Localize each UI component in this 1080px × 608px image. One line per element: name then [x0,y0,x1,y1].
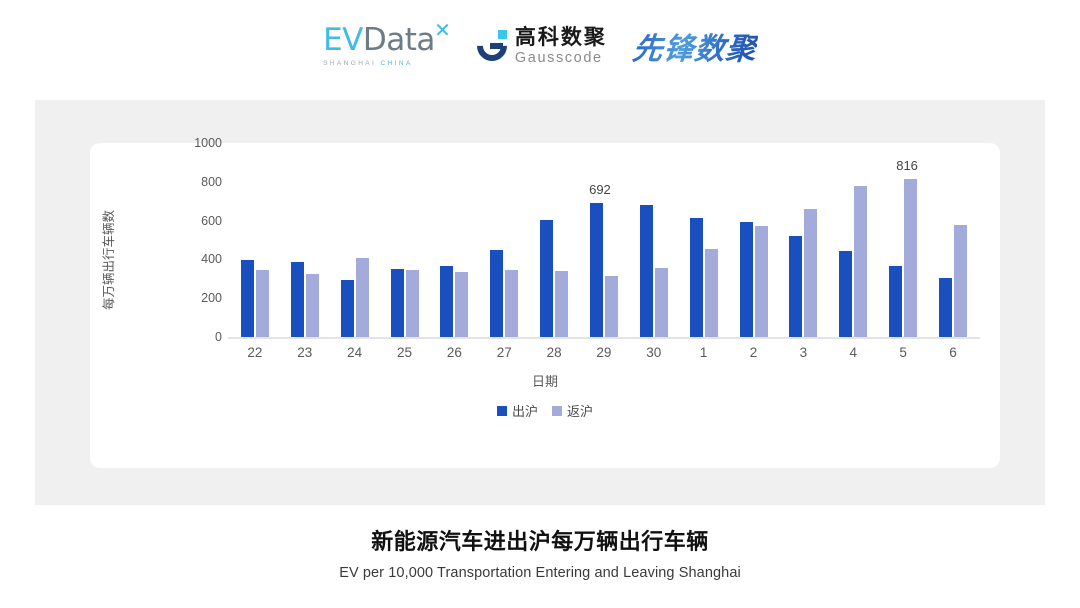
bar-出沪-6[interactable] [939,278,952,337]
gausscode-mark-icon [477,31,507,61]
chart-card: 每万辆出行车辆数 10008006004002000 692816 222324… [90,143,1000,468]
bar-出沪-25[interactable] [391,269,404,337]
legend-item-出沪[interactable]: 出沪 [497,401,538,420]
x-tick-label: 28 [529,345,579,360]
y-tick-label: 0 [215,330,222,344]
bar-返沪-30[interactable] [655,268,668,337]
caption-english: EV per 10,000 Transportation Entering an… [0,565,1080,581]
y-tick-label: 800 [201,175,222,189]
y-axis-ticks: 10008006004002000 [180,143,222,368]
bar-group [479,143,529,337]
bar-group [928,143,978,337]
x-tick-label: 26 [429,345,479,360]
bar-返沪-27[interactable] [505,270,518,337]
bar-返沪-5[interactable] [904,179,917,337]
x-tick-label: 29 [579,345,629,360]
bar-返沪-28[interactable] [555,271,568,337]
bar-出沪-30[interactable] [640,205,653,337]
evdata-ev-text: EV [323,25,363,56]
evdata-tagline-china: CHINA [380,60,412,67]
x-tick-label: 5 [878,345,928,360]
y-tick-label: 200 [201,291,222,305]
bar-出沪-24[interactable] [341,280,354,337]
x-tick-label: 2 [729,345,779,360]
evdata-tagline-shanghai: SHANGHAI [323,60,376,67]
evdata-data-text: Data [363,25,435,56]
gausscode-wordmark: 高科数聚 Gausscode [515,27,607,66]
x-tick-label: 27 [479,345,529,360]
x-axis-ticks: 222324252627282930123456 [230,345,978,360]
x-axis-title: 日期 [90,371,1000,390]
bar-group [380,143,430,337]
bar-group [629,143,679,337]
chart-legend: 出沪返沪 [90,401,1000,420]
gausscode-cn-text: 高科数聚 [515,27,607,48]
bar-group [429,143,479,337]
bar-出沪-28[interactable] [540,220,553,337]
bar-group [778,143,828,337]
evdata-x-icon: ✕ [434,21,451,41]
y-tick-label: 600 [201,214,222,228]
bar-group [280,143,330,337]
xianfeng-logo: 先锋数聚 [631,24,760,68]
bar-group [330,143,380,337]
x-tick-label: 30 [629,345,679,360]
x-tick-label: 4 [828,345,878,360]
legend-item-返沪[interactable]: 返沪 [552,401,593,420]
bar-返沪-2[interactable] [755,226,768,337]
bar-value-label: 692 [589,182,611,197]
figure-caption: 新能源汽车进出沪每万辆出行车辆 EV per 10,000 Transporta… [0,524,1080,581]
bar-value-label: 816 [896,158,918,173]
bar-出沪-3[interactable] [789,236,802,337]
bar-返沪-4[interactable] [854,186,867,337]
bar-出沪-26[interactable] [440,266,453,337]
bar-出沪-1[interactable] [690,218,703,337]
bar-返沪-23[interactable] [306,274,319,337]
x-tick-label: 23 [280,345,330,360]
bar-出沪-2[interactable] [740,222,753,337]
x-tick-label: 25 [380,345,430,360]
bar-出沪-23[interactable] [291,262,304,337]
x-tick-label: 24 [330,345,380,360]
bar-返沪-3[interactable] [804,209,817,337]
legend-label: 出沪 [512,401,538,420]
bar-返沪-24[interactable] [356,258,369,337]
logo-bar: EVData ✕ SHANGHAI CHINA 高科数聚 Gausscode 先… [0,0,1080,92]
legend-swatch-icon [552,406,562,416]
y-axis-title: 每万辆出行车辆数 [98,185,116,335]
legend-swatch-icon [497,406,507,416]
bar-chart: 每万辆出行车辆数 10008006004002000 692816 222324… [90,143,1000,468]
bar-group: 692 [579,143,629,337]
bar-出沪-22[interactable] [241,260,254,337]
bar-出沪-5[interactable] [889,266,902,337]
x-tick-label: 1 [679,345,729,360]
caption-chinese: 新能源汽车进出沪每万辆出行车辆 [0,524,1080,556]
plot-area: 692816 [230,143,978,337]
chart-panel-background: 每万辆出行车辆数 10008006004002000 692816 222324… [35,100,1045,505]
bar-返沪-25[interactable] [406,270,419,337]
bar-返沪-29[interactable] [605,276,618,337]
bar-出沪-27[interactable] [490,250,503,337]
gausscode-logo: 高科数聚 Gausscode [477,27,607,66]
bar-group [729,143,779,337]
bar-返沪-26[interactable] [455,272,468,337]
legend-label: 返沪 [567,401,593,420]
bar-group: 816 [878,143,928,337]
bar-返沪-22[interactable] [256,270,269,337]
x-tick-label: 3 [778,345,828,360]
bar-出沪-29[interactable] [590,203,603,337]
x-axis-line [228,337,980,339]
evdata-logo: EVData ✕ SHANGHAI CHINA [323,25,451,67]
x-tick-label: 6 [928,345,978,360]
bar-group [230,143,280,337]
bar-返沪-6[interactable] [954,225,967,337]
bar-group [529,143,579,337]
x-tick-label: 22 [230,345,280,360]
gausscode-en-text: Gausscode [515,51,607,66]
evdata-tagline: SHANGHAI CHINA [323,60,413,67]
bar-出沪-4[interactable] [839,251,852,337]
bar-返沪-1[interactable] [705,249,718,337]
y-tick-label: 400 [201,252,222,266]
bar-group [828,143,878,337]
bar-group [679,143,729,337]
y-tick-label: 1000 [194,136,222,150]
evdata-wordmark: EVData [323,25,435,56]
